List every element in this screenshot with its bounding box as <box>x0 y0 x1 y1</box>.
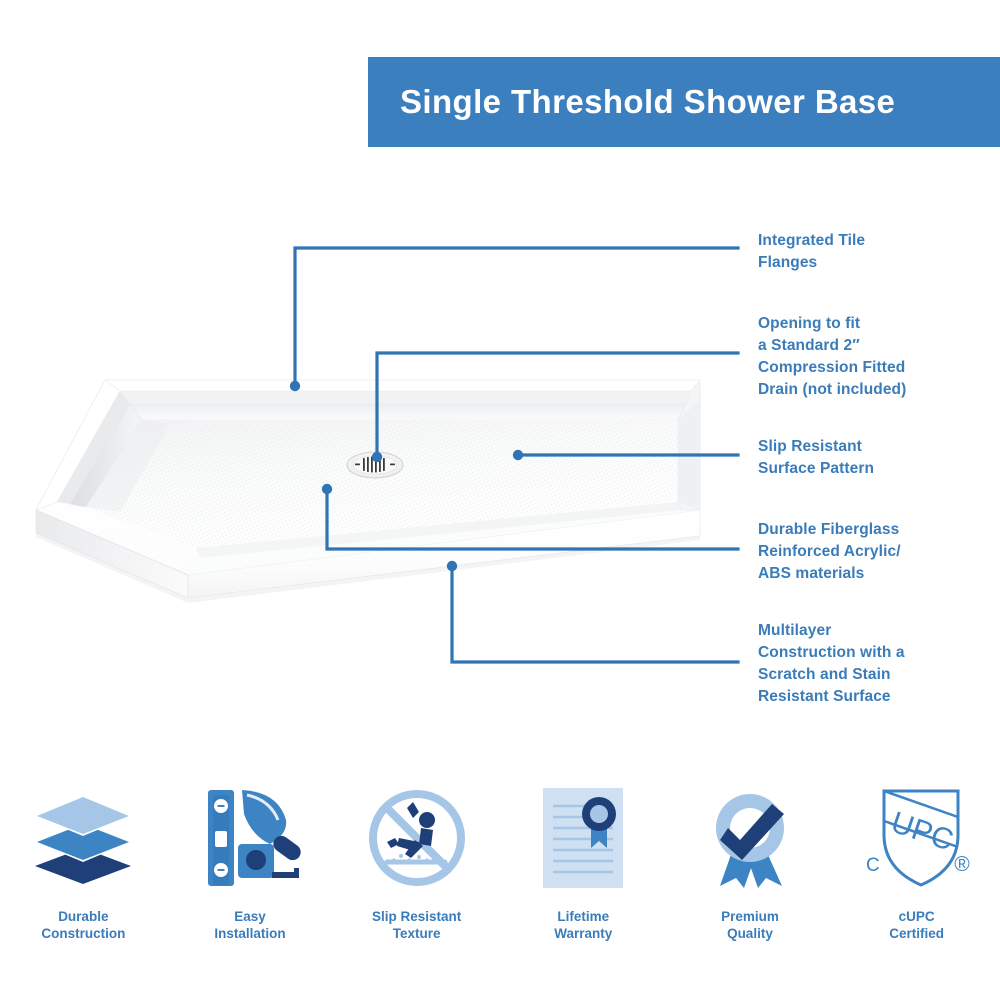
upc-shield-icon: UPC C ® <box>858 782 976 894</box>
callout-multilayer-construction: Multilayer Construction with a Scratch a… <box>758 620 905 708</box>
feature-lifetime-warranty: Lifetime Warranty <box>500 782 666 942</box>
tile-flange-back <box>105 380 700 391</box>
infographic-canvas: Single Threshold Shower Base <box>0 0 1000 1000</box>
callout-durable-materials: Durable Fiberglass Reinforced Acrylic/ A… <box>758 519 901 585</box>
feature-slip-resistant: Slip Resistant Texture <box>334 782 500 942</box>
tools-icon <box>194 782 306 894</box>
basin-wall-back <box>130 404 686 420</box>
feature-cupc-certified: UPC C ® cUPC Certified <box>834 782 1000 942</box>
callout-integrated-tile-flanges: Integrated Tile Flanges <box>758 230 865 274</box>
callout-drain-opening: Opening to fit a Standard 2″ Compression… <box>758 313 906 401</box>
upc-c-text: C <box>866 855 880 876</box>
no-slip-icon <box>361 782 473 894</box>
feature-easy-installation: Easy Installation <box>167 782 333 942</box>
product-illustration <box>10 360 740 610</box>
layers-icon <box>27 782 139 894</box>
feature-label: cUPC Certified <box>889 908 944 942</box>
checkmark-badge-icon <box>698 782 802 894</box>
feature-label: Premium Quality <box>721 908 779 942</box>
feature-premium-quality: Premium Quality <box>667 782 833 942</box>
feature-label: Easy Installation <box>214 908 285 942</box>
feature-label: Lifetime Warranty <box>554 908 612 942</box>
drain-grate <box>347 452 403 478</box>
upc-registered-text: ® <box>954 853 970 876</box>
callout-slip-resistant-surface: Slip Resistant Surface Pattern <box>758 436 874 480</box>
page-title: Single Threshold Shower Base <box>368 83 895 121</box>
feature-label: Slip Resistant Texture <box>372 908 461 942</box>
feature-durable-construction: Durable Construction <box>0 782 166 942</box>
feature-strip: Durable Construction <box>0 782 1000 972</box>
certificate-icon <box>531 782 635 894</box>
title-banner: Single Threshold Shower Base <box>368 57 1000 147</box>
feature-label: Durable Construction <box>41 908 125 942</box>
